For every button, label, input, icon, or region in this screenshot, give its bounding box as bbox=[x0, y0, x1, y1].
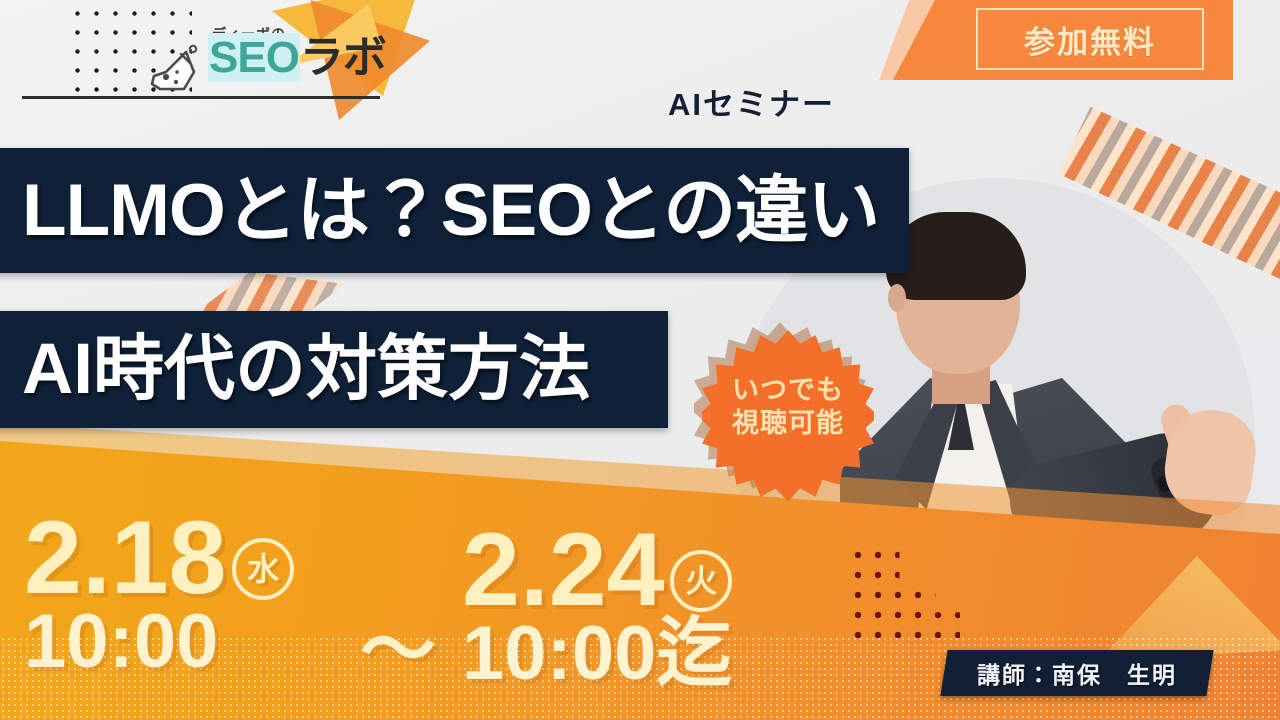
flask-icon bbox=[150, 42, 202, 92]
schedule-block: 2.18水 10:00 2.24火 10:00迄 bbox=[0, 496, 900, 720]
seminar-banner: ディーボの SEOラボ 参加無料 AIセミナー bbox=[0, 0, 1280, 720]
schedule-start-date: 2.18 bbox=[24, 506, 226, 610]
logo-seo-text: SEO bbox=[208, 33, 300, 82]
title-line-1: LLMOとは？SEOとの違い bbox=[22, 174, 879, 247]
schedule-end: 2.24火 10:00迄 bbox=[462, 518, 732, 692]
schedule-start-time: 10:00 bbox=[24, 604, 294, 680]
title-bar-primary: LLMOとは？SEOとの違い bbox=[0, 148, 909, 273]
schedule-start: 2.18水 10:00 bbox=[24, 506, 294, 680]
brand-logo[interactable]: ディーボの SEOラボ bbox=[150, 22, 390, 92]
logo-wordmark: SEOラボ bbox=[208, 36, 386, 80]
anytime-viewing-badge: いつでも 視聴可能 bbox=[702, 330, 874, 502]
title-bar-secondary: AI時代の対策方法 bbox=[0, 311, 668, 428]
schedule-start-row: 2.18水 bbox=[24, 506, 294, 610]
schedule-end-dow: 火 bbox=[670, 550, 732, 612]
free-badge-frame: 参加無料 bbox=[976, 8, 1204, 70]
schedule-end-date: 2.24 bbox=[462, 518, 664, 622]
schedule-start-dow: 水 bbox=[232, 538, 294, 600]
speaker-plate: 講師：南保 生明 bbox=[940, 650, 1213, 696]
logo-lab-text: ラボ bbox=[300, 33, 386, 82]
schedule-separator: ～ bbox=[360, 588, 436, 698]
schedule-end-time: 10:00迄 bbox=[462, 616, 732, 692]
seminar-kicker: AIセミナー bbox=[668, 79, 835, 124]
free-badge-label: 参加無料 bbox=[1024, 17, 1156, 62]
burst-line-2: 視聴可能 bbox=[702, 407, 874, 440]
logo-underline-divider bbox=[22, 96, 380, 99]
burst-line-1: いつでも bbox=[702, 374, 874, 407]
title-line-2: AI時代の対策方法 bbox=[22, 334, 590, 405]
free-badge: 参加無料 bbox=[893, 0, 1233, 80]
burst-text: いつでも 視聴可能 bbox=[702, 374, 874, 440]
presenter-ear bbox=[888, 284, 906, 312]
schedule-end-row: 2.24火 bbox=[462, 518, 732, 622]
speaker-label: 講師：南保 生明 bbox=[977, 656, 1177, 690]
